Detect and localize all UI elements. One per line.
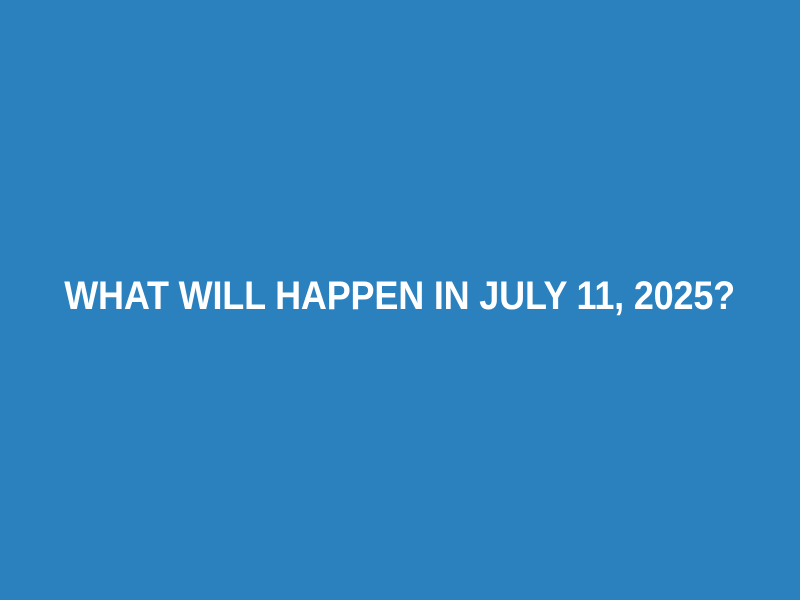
hero-content: What will happen in July 11, 2025? bbox=[0, 274, 800, 318]
hero-banner: What will happen in July 11, 2025? bbox=[0, 0, 800, 600]
page-title: What will happen in July 11, 2025? bbox=[29, 274, 772, 318]
